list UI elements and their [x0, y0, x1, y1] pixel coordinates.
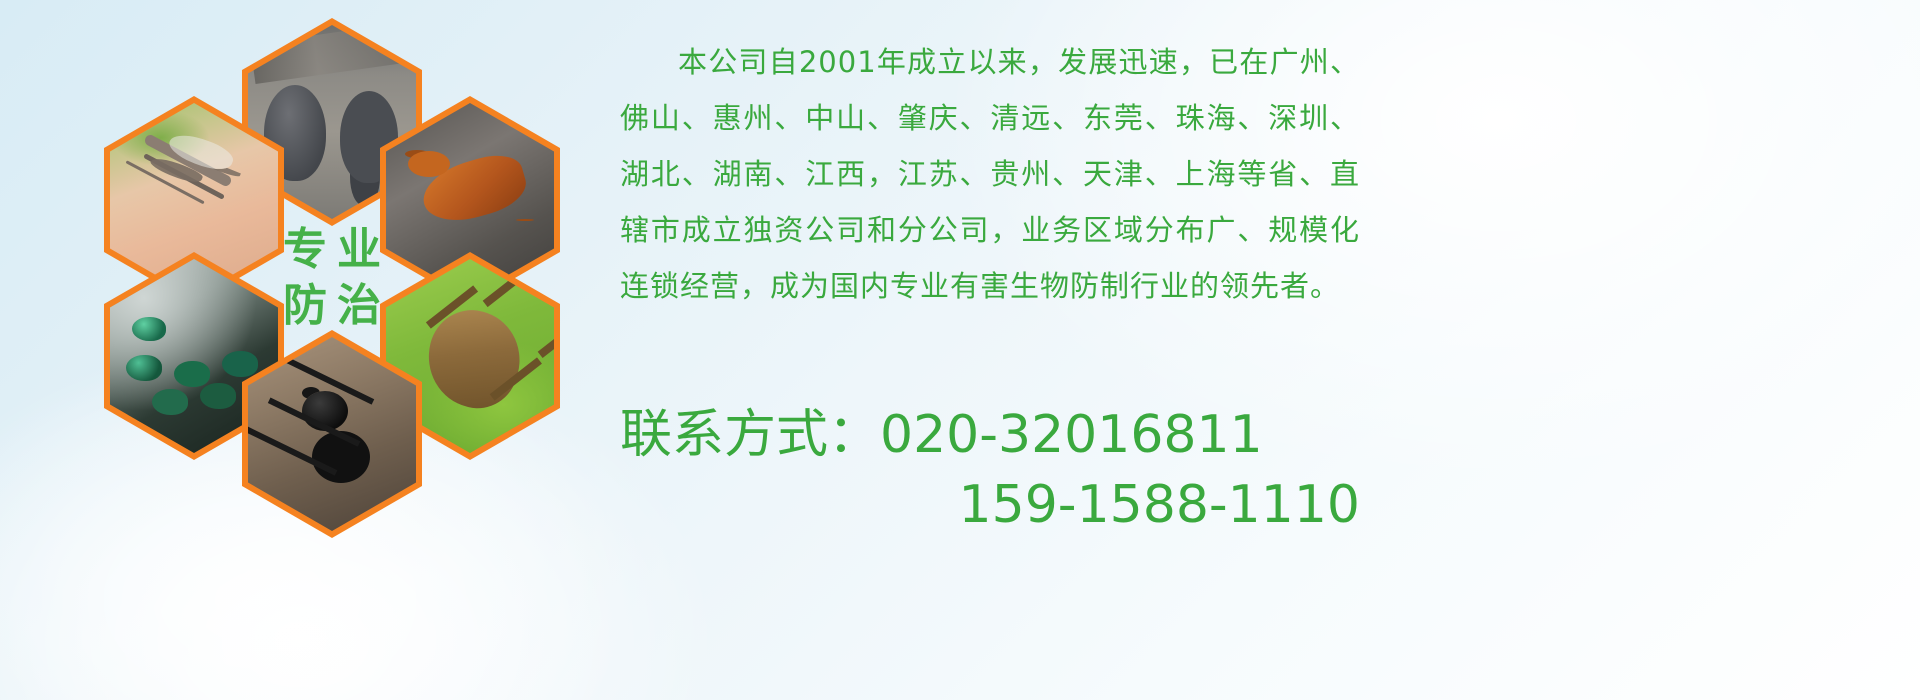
hexagon-photo-cluster: 专业 防治: [90, 8, 590, 568]
hex-center-label: 专业 防治: [242, 174, 422, 382]
company-description-text: 本公司自2001年成立以来，发展迅速，已在广州、佛山、惠州、中山、肇庆、清远、东…: [620, 34, 1360, 314]
contact-phone-mobile[interactable]: 159-1588-1110: [620, 470, 1380, 540]
hex-label-line-1: 专业: [273, 228, 391, 272]
contact-phone-landline[interactable]: 联系方式：020-32016811: [620, 400, 1380, 470]
contact-block: 联系方式：020-32016811 159-1588-1110: [620, 400, 1380, 540]
hex-label-line-2: 防治: [273, 284, 391, 328]
company-description-block: 本公司自2001年成立以来，发展迅速，已在广州、佛山、惠州、中山、肇庆、清远、东…: [620, 34, 1360, 314]
promo-banner: 专业 防治 本公司自2001年成立以来，发展迅速，已在广州、佛山、惠州、中山、肇…: [0, 0, 1920, 700]
